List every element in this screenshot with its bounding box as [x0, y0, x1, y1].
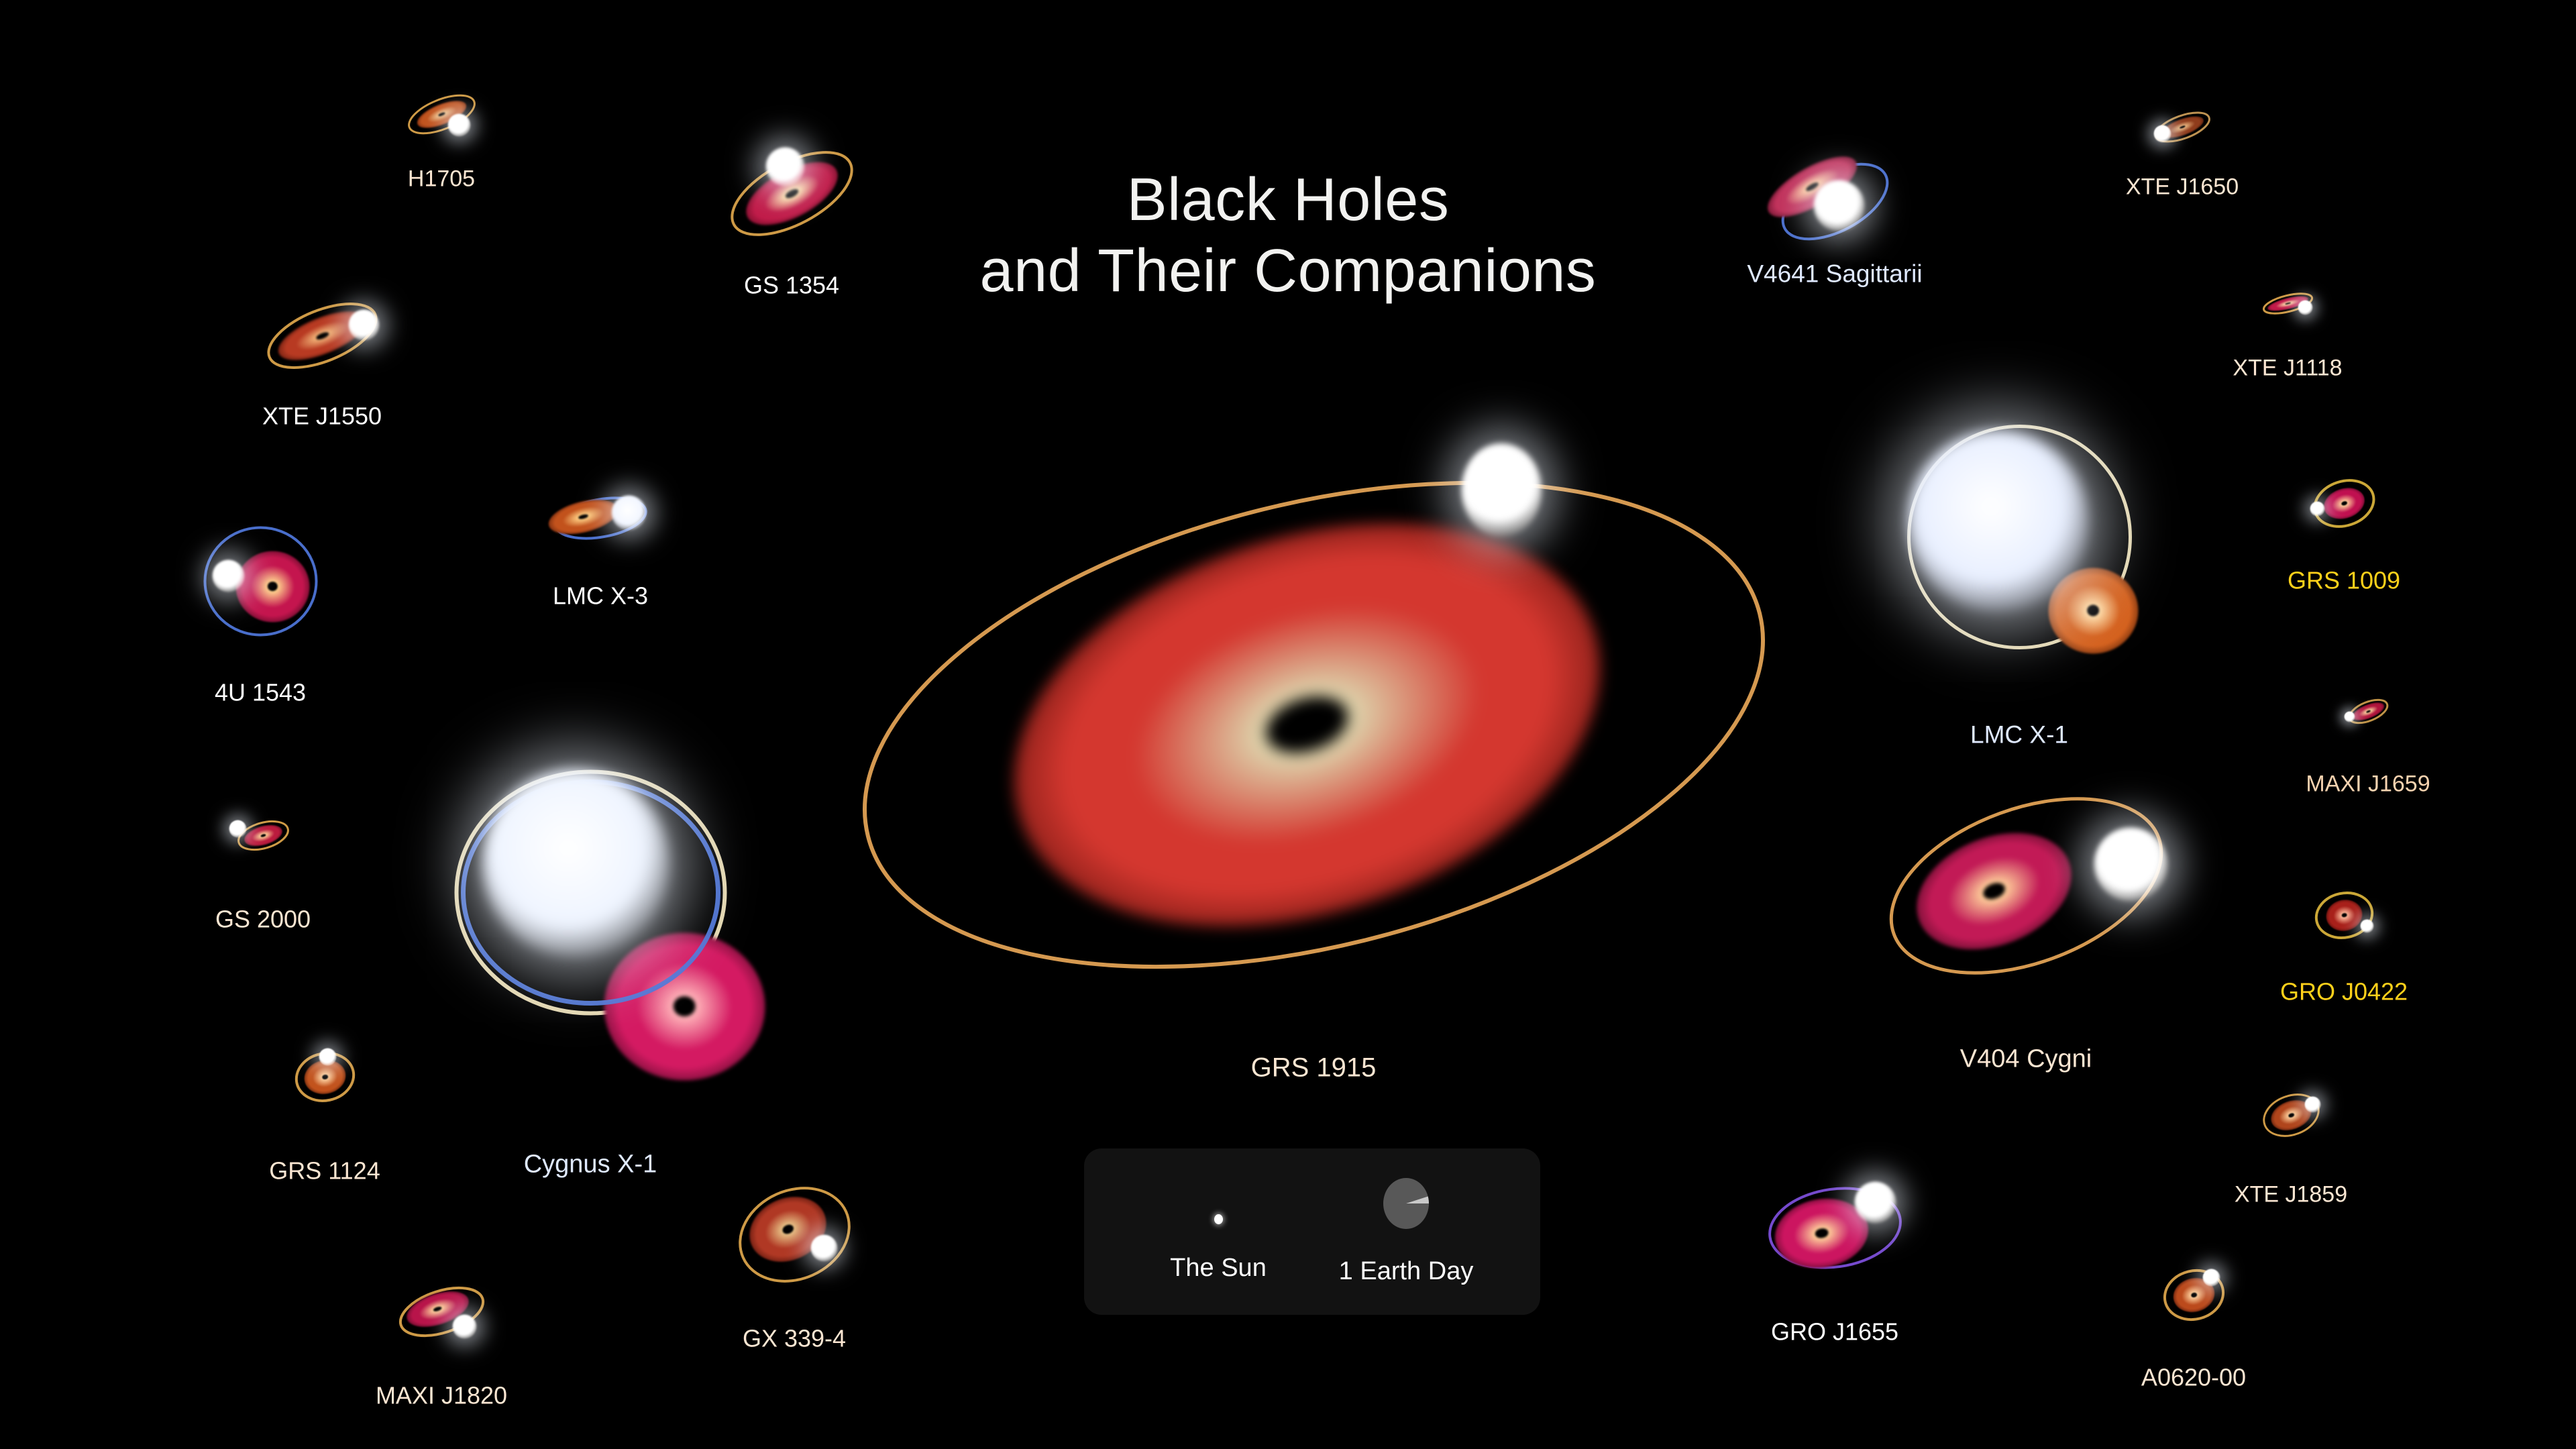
companion-star — [229, 820, 246, 837]
companion-star — [348, 309, 379, 340]
system-label-xtej1118: XTE J1118 — [2233, 356, 2342, 382]
companion-star — [1854, 1181, 1896, 1223]
black-hole-system-maxij1659[interactable]: MAXI J1659 — [2368, 711, 2369, 712]
system-label-v4641: V4641 Sagittarii — [1747, 260, 1922, 288]
companion-star — [611, 495, 646, 530]
black-hole-system-gs1354[interactable]: GS 1354 — [792, 193, 792, 194]
companion-star — [765, 147, 804, 186]
black-hole-system-cygnusx1[interactable]: Cygnus X-1 — [590, 892, 591, 893]
system-label-maxij1820: MAXI J1820 — [376, 1382, 507, 1410]
black-hole-system-grs1915[interactable]: GRS 1915 — [1313, 724, 1314, 725]
black-hole-system-xtej1118[interactable]: XTE J1118 — [2288, 303, 2288, 304]
black-hole-system-grs1124[interactable]: GRS 1124 — [325, 1077, 325, 1077]
black-hole-system-gs2000[interactable]: GS 2000 — [263, 835, 264, 836]
black-hole-system-groj0422[interactable]: GRO J0422 — [2344, 915, 2345, 916]
system-label-v404cygni: V404 Cygni — [1960, 1045, 2092, 1074]
legend-item-earth-day: 1 Earth Day — [1332, 1166, 1480, 1286]
companion-star — [2360, 919, 2373, 932]
system-label-a0620: A0620-00 — [2141, 1364, 2246, 1392]
companion-star — [2298, 300, 2312, 315]
black-hole-system-v404cygni[interactable]: V404 Cygni — [2026, 885, 2027, 886]
system-label-lmcx1: LMC X-1 — [1970, 721, 2068, 749]
page-title: Black Holes and Their Companions — [926, 164, 1650, 307]
black-hole-system-a0620[interactable]: A0620-00 — [2194, 1295, 2194, 1295]
companion-star — [1813, 180, 1864, 231]
companion-star — [2202, 1269, 2220, 1286]
clock-disc-icon — [1383, 1178, 1429, 1229]
system-label-xtej1859: XTE J1859 — [2235, 1182, 2347, 1208]
black-hole-system-lmcx3[interactable]: LMC X-3 — [600, 518, 601, 519]
system-label-gs1354: GS 1354 — [744, 272, 839, 300]
black-hole-system-v4641[interactable]: V4641 Sagittarii — [1835, 201, 1835, 202]
sky-canvas: Black Holes and Their Companions H1705GS… — [0, 0, 2576, 1449]
system-label-groj0422: GRO J0422 — [2280, 978, 2408, 1006]
system-label-xtej1650: XTE J1650 — [2126, 174, 2239, 201]
legend-day-label: 1 Earth Day — [1332, 1257, 1480, 1286]
legend-sun-label: The Sun — [1151, 1254, 1285, 1283]
system-label-h1705: H1705 — [408, 166, 475, 193]
black-hole-system-maxij1820[interactable]: MAXI J1820 — [441, 1311, 442, 1312]
black-hole-system-xtej1859[interactable]: XTE J1859 — [2291, 1115, 2292, 1116]
system-label-gs2000: GS 2000 — [215, 906, 311, 934]
companion-star — [212, 559, 244, 592]
system-label-maxij1659: MAXI J1659 — [2306, 771, 2430, 798]
system-label-gx3394: GX 339-4 — [743, 1325, 846, 1353]
system-label-grs1124: GRS 1124 — [269, 1157, 380, 1185]
system-label-cygnusx1: Cygnus X-1 — [524, 1150, 657, 1179]
companion-star — [319, 1048, 336, 1065]
sun-dot-icon — [1214, 1214, 1223, 1224]
companion-star — [2153, 125, 2171, 142]
system-label-lmcx3: LMC X-3 — [553, 582, 648, 610]
system-label-groj1655: GRO J1655 — [1771, 1318, 1898, 1346]
companion-star — [810, 1234, 837, 1261]
companion-star — [447, 113, 470, 136]
black-hole-system-gx3394[interactable]: GX 339-4 — [794, 1234, 795, 1235]
accretion-disk — [235, 551, 309, 622]
companion-star — [2094, 827, 2167, 901]
black-hole-system-h1705[interactable]: H1705 — [441, 114, 442, 115]
system-label-grs1009: GRS 1009 — [2288, 567, 2400, 595]
black-hole-system-lmcx1[interactable]: LMC X-1 — [2019, 537, 2020, 537]
system-label-xtej1550: XTE J1550 — [262, 402, 382, 431]
companion-star — [2310, 501, 2324, 516]
companion-star — [482, 769, 669, 957]
clock-wedge-icon — [1406, 1178, 1429, 1203]
system-label-4u1543: 4U 1543 — [215, 679, 306, 707]
legend-item-sun: The Sun — [1151, 1183, 1285, 1283]
companion-star — [2344, 711, 2355, 722]
black-hole-system-grs1009[interactable]: GRS 1009 — [2344, 503, 2345, 504]
black-hole-system-groj1655[interactable]: GRO J1655 — [1835, 1228, 1835, 1228]
black-hole-system-4u1543[interactable]: 4U 1543 — [260, 581, 261, 582]
black-hole-system-xtej1650[interactable]: XTE J1650 — [2182, 127, 2183, 127]
scale-legend: The Sun 1 Earth Day — [1084, 1148, 1540, 1315]
black-hole-system-xtej1550[interactable]: XTE J1550 — [322, 335, 323, 336]
companion-star — [2304, 1096, 2320, 1112]
companion-star — [1907, 430, 2088, 611]
companion-star — [452, 1314, 476, 1338]
system-label-grs1915: GRS 1915 — [1251, 1053, 1377, 1083]
companion-star — [1461, 443, 1542, 537]
